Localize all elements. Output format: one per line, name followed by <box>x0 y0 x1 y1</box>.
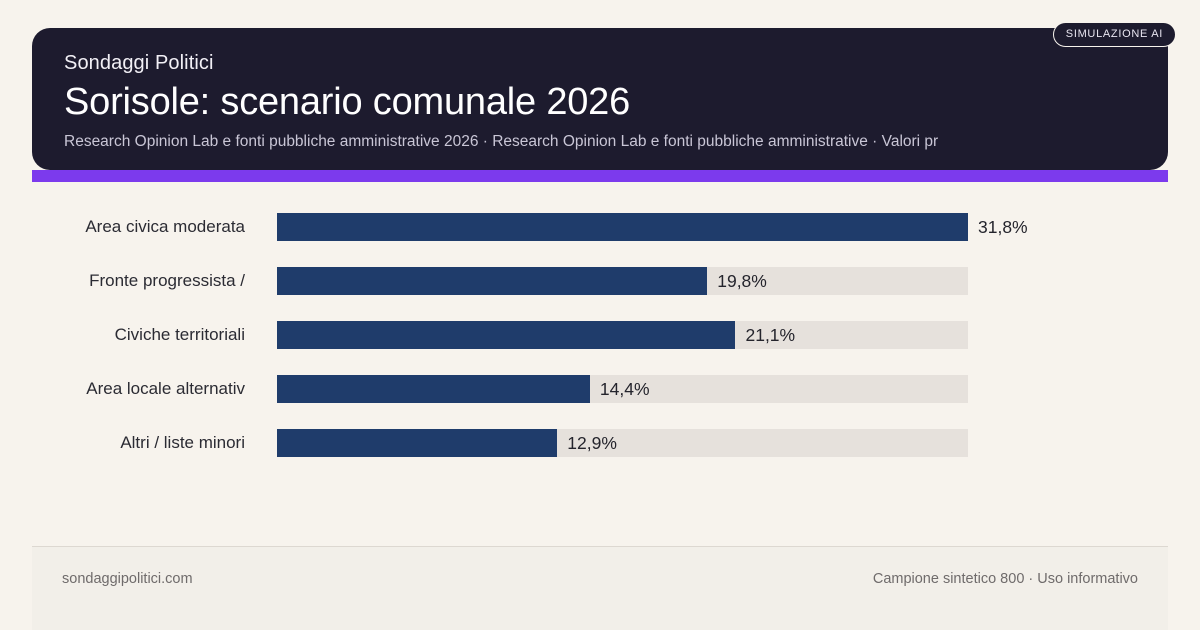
bar-row: Altri / liste minori12,9% <box>0 416 1200 470</box>
bar-category-label: Civiche territoriali <box>0 324 245 346</box>
status-badge: SIMULAZIONE AI <box>1053 22 1176 47</box>
bar-fill <box>277 321 735 349</box>
bar-category-label: Area civica moderata <box>0 216 245 238</box>
page-title: Sorisole: scenario comunale 2026 <box>64 78 1134 126</box>
bar-fill <box>277 375 590 403</box>
bar-area: 12,9% <box>277 429 968 457</box>
bar-category-label: Area locale alternativ <box>0 378 245 400</box>
bar-value-label: 14,4% <box>600 378 650 400</box>
bar-area: 31,8% <box>277 213 968 241</box>
bar-fill <box>277 213 968 241</box>
source-subtitle: Research Opinion Lab e fonti pubbliche a… <box>64 131 1094 153</box>
bar-row: Area civica moderata31,8% <box>0 200 1200 254</box>
bar-fill <box>277 267 707 295</box>
bar-value-label: 21,1% <box>745 324 795 346</box>
accent-divider <box>32 170 1168 182</box>
bar-area: 19,8% <box>277 267 968 295</box>
bar-value-label: 31,8% <box>978 216 1028 238</box>
footer-site-url: sondaggipolitici.com <box>62 569 193 589</box>
bar-fill <box>277 429 557 457</box>
bar-value-label: 19,8% <box>717 270 767 292</box>
footer-note: Campione sintetico 800 · Uso informativo <box>873 569 1138 589</box>
bar-value-label: 12,9% <box>567 432 617 454</box>
poll-graphic-canvas: Sondaggi Politici Sorisole: scenario com… <box>0 0 1200 630</box>
header-card: Sondaggi Politici Sorisole: scenario com… <box>32 28 1168 170</box>
bar-area: 21,1% <box>277 321 968 349</box>
bar-row: Area locale alternativ14,4% <box>0 362 1200 416</box>
footer: sondaggipolitici.com Campione sintetico … <box>32 546 1168 630</box>
bar-category-label: Altri / liste minori <box>0 432 245 454</box>
bar-category-label: Fronte progressista / <box>0 270 245 292</box>
bar-chart: Area civica moderata31,8%Fronte progress… <box>0 200 1200 470</box>
bar-area: 14,4% <box>277 375 968 403</box>
bar-row: Civiche territoriali21,1% <box>0 308 1200 362</box>
brand-kicker: Sondaggi Politici <box>64 50 1134 76</box>
bar-row: Fronte progressista /19,8% <box>0 254 1200 308</box>
